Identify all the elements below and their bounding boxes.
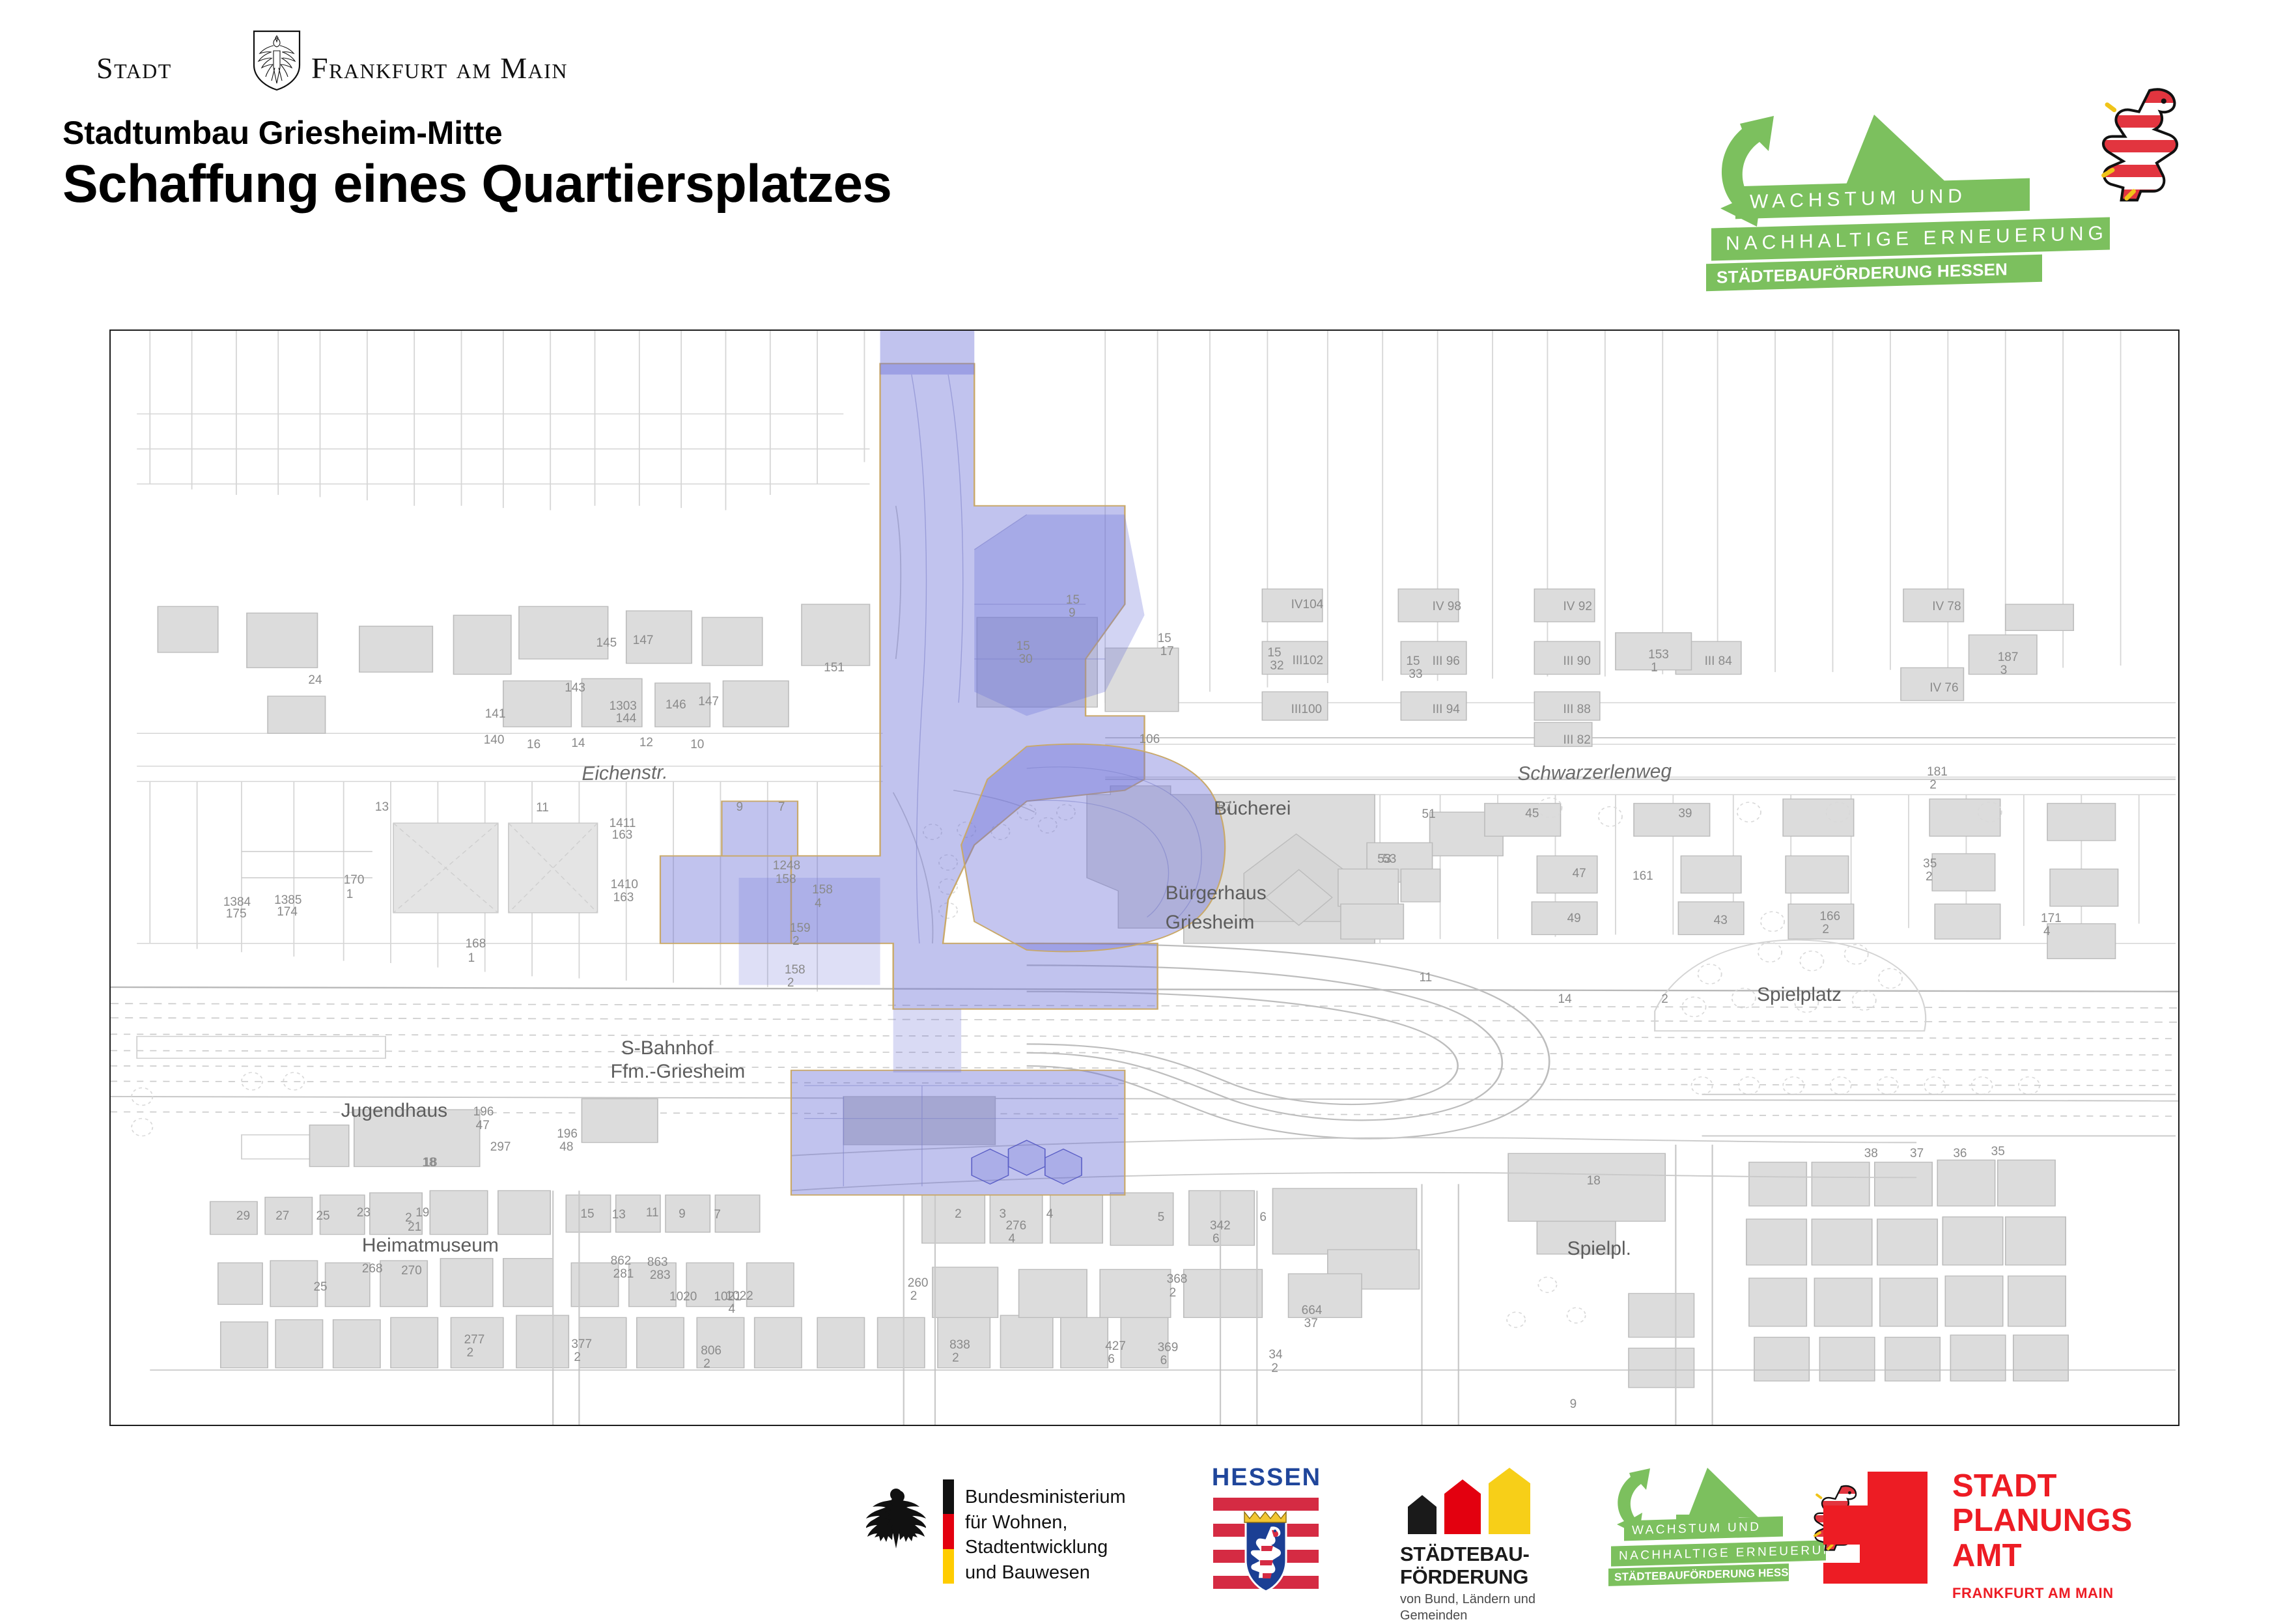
sbf-sub-1: von Bund, Ländern und: [1400, 1591, 1535, 1608]
title-block: Stadtumbau Griesheim-Mitte Schaffung ein…: [63, 116, 891, 214]
hessen-wordmark: HESSEN: [1208, 1464, 1325, 1492]
stadtplanungsamt-logo: STADT PLANUNGS AMT FRANKFURT AM MAIN: [1823, 1469, 2201, 1599]
city-of-frankfurt-logo: Stadt Frankfurt am Main: [96, 34, 513, 92]
bmwsb-line-2: für Wohnen, Stadtentwicklung: [965, 1510, 1172, 1560]
bmwsb-wordmark: Bundesministerium für Wohnen, Stadtentwi…: [965, 1485, 1172, 1585]
spa-line-1: STADT: [1952, 1469, 2133, 1504]
bundesadler-icon: [866, 1483, 926, 1554]
bmwsb-line-1: Bundesministerium: [965, 1485, 1172, 1510]
site-plan-map[interactable]: Eichenstr.SchwarzerlenwegAm Gemeindegart…: [109, 329, 2180, 1426]
bmwsb-logo: Bundesministerium für Wohnen, Stadtentwi…: [866, 1479, 1172, 1584]
city-logo-word-frankfurt: Frankfurt am Main: [311, 51, 568, 85]
sbf-line-2: FÖRDERUNG: [1400, 1566, 1530, 1589]
page-header: Stadt Frankfurt am Main: [0, 0, 2285, 313]
staedtebaufoerderung-wordmark: STÄDTEBAU- FÖRDERUNG: [1400, 1543, 1530, 1588]
city-logo-word-stadt: Stadt: [96, 51, 172, 85]
staedtebaufoerderung-logo: STÄDTEBAU- FÖRDERUNG von Bund, Ländern u…: [1400, 1466, 1615, 1603]
hessen-coat-of-arms-icon: [1213, 1496, 1319, 1594]
page-title: Schaffung eines Quartiersplatzes: [63, 156, 891, 214]
german-flag-bar-icon: [943, 1479, 954, 1584]
project-eyebrow: Stadtumbau Griesheim-Mitte: [63, 116, 891, 150]
stadtplanungsamt-wordmark: STADT PLANUNGS AMT: [1952, 1469, 2133, 1573]
sbf-sub-2: Gemeinden: [1400, 1608, 1535, 1624]
stadtplanungsamt-mark-icon: [1823, 1472, 1928, 1584]
spa-line-2: PLANUNGS: [1952, 1504, 2133, 1538]
spa-subline: FRANKFURT AM MAIN: [1952, 1585, 2114, 1602]
page-footer: Bundesministerium für Wohnen, Stadtentwi…: [0, 1452, 2285, 1615]
hessen-lion-icon: [2084, 78, 2198, 202]
program-logo-footer-line-3: STÄDTEBAUFÖRDERUNG HESSEN: [1608, 1563, 1789, 1586]
bmwsb-line-3: und Bauwesen: [965, 1560, 1172, 1586]
staedtebaufoerderung-subline: von Bund, Ländern und Gemeinden: [1400, 1591, 1535, 1624]
spa-line-3: AMT: [1952, 1539, 2133, 1573]
map-vector-canvas: [111, 331, 2178, 1425]
hessen-state-logo: HESSEN: [1208, 1464, 1325, 1594]
three-houses-icon: [1401, 1466, 1538, 1538]
frankfurt-eagle-crest-icon: [251, 29, 302, 91]
sbf-line-1: STÄDTEBAU-: [1400, 1543, 1530, 1566]
hatched-blocks: [393, 823, 597, 913]
program-logo-header: WACHSTUM UND NACHHALTIGE ERNEUERUNG STÄD…: [1706, 111, 2221, 280]
